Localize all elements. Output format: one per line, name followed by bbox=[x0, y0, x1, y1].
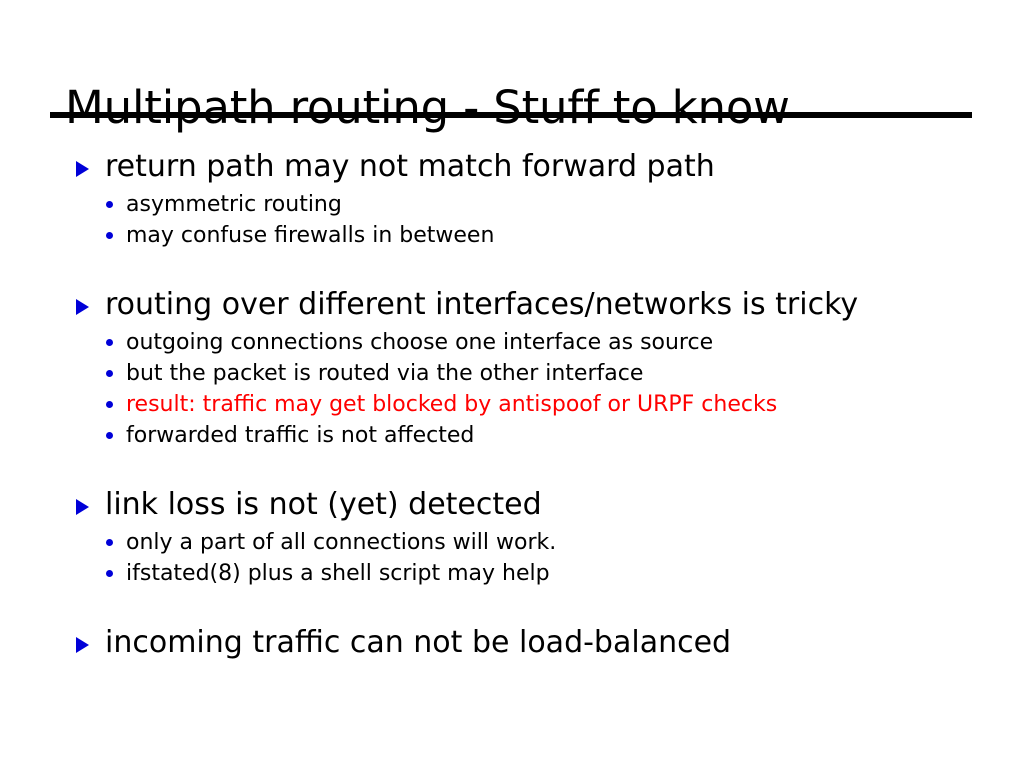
bullet-level2-text: ifstated(8) plus a shell script may help bbox=[126, 561, 550, 586]
bullet-level1: link loss is not (yet) detected bbox=[0, 488, 1024, 522]
bullet-level2-highlighted: result: traffic may get blocked by antis… bbox=[0, 389, 1024, 420]
bullet-level2-text: but the packet is routed via the other i… bbox=[126, 361, 643, 386]
dot-icon bbox=[106, 339, 113, 346]
slide-title: Multipath routing - Stuff to know bbox=[65, 82, 985, 134]
bullet-level2: outgoing connections choose one interfac… bbox=[0, 327, 1024, 358]
triangle-right-icon bbox=[76, 499, 89, 515]
dot-icon bbox=[106, 370, 113, 377]
bullet-level2-text: outgoing connections choose one interfac… bbox=[126, 330, 713, 355]
dot-icon bbox=[106, 570, 113, 577]
bullet-level2: only a part of all connections will work… bbox=[0, 527, 1024, 558]
dot-icon bbox=[106, 201, 113, 208]
sub-bullet-list: asymmetric routing may confuse firewalls… bbox=[0, 189, 1024, 251]
dot-icon bbox=[106, 232, 113, 239]
dot-icon bbox=[106, 432, 113, 439]
bullet-level2-text: forwarded traffic is not affected bbox=[126, 423, 474, 448]
bullet-level1-text: link loss is not (yet) detected bbox=[105, 487, 542, 522]
sub-bullet-list: outgoing connections choose one interfac… bbox=[0, 327, 1024, 451]
bullet-level2: ifstated(8) plus a shell script may help bbox=[0, 558, 1024, 589]
sub-bullet-list: only a part of all connections will work… bbox=[0, 527, 1024, 589]
bullet-level1-text: return path may not match forward path bbox=[105, 149, 715, 184]
bullet-level1: incoming traffic can not be load-balance… bbox=[0, 626, 1024, 660]
bullet-level2-text: result: traffic may get blocked by antis… bbox=[126, 392, 777, 417]
dot-icon bbox=[106, 539, 113, 546]
bullet-level2-text: may confuse firewalls in between bbox=[126, 223, 494, 248]
bullet-level2: may confuse firewalls in between bbox=[0, 220, 1024, 251]
bullet-group: return path may not match forward path a… bbox=[0, 150, 1024, 251]
title-underline-rule bbox=[50, 112, 972, 118]
bullet-level2-text: asymmetric routing bbox=[126, 192, 342, 217]
bullet-level2: asymmetric routing bbox=[0, 189, 1024, 220]
bullet-level1-text: routing over different interfaces/networ… bbox=[105, 287, 858, 322]
bullet-level2: forwarded traffic is not affected bbox=[0, 420, 1024, 451]
bullet-level1-text: incoming traffic can not be load-balance… bbox=[105, 625, 731, 660]
bullet-level1: routing over different interfaces/networ… bbox=[0, 288, 1024, 322]
bullet-level2: but the packet is routed via the other i… bbox=[0, 358, 1024, 389]
bullet-level2-text: only a part of all connections will work… bbox=[126, 530, 556, 555]
triangle-right-icon bbox=[76, 299, 89, 315]
triangle-right-icon bbox=[76, 637, 89, 653]
dot-icon bbox=[106, 401, 113, 408]
slide-body-outline: return path may not match forward path a… bbox=[0, 150, 1024, 660]
bullet-level1: return path may not match forward path bbox=[0, 150, 1024, 184]
presentation-slide: Multipath routing - Stuff to know return… bbox=[0, 0, 1024, 768]
bullet-group: link loss is not (yet) detected only a p… bbox=[0, 488, 1024, 589]
bullet-group: incoming traffic can not be load-balance… bbox=[0, 626, 1024, 660]
bullet-group: routing over different interfaces/networ… bbox=[0, 288, 1024, 451]
triangle-right-icon bbox=[76, 161, 89, 177]
